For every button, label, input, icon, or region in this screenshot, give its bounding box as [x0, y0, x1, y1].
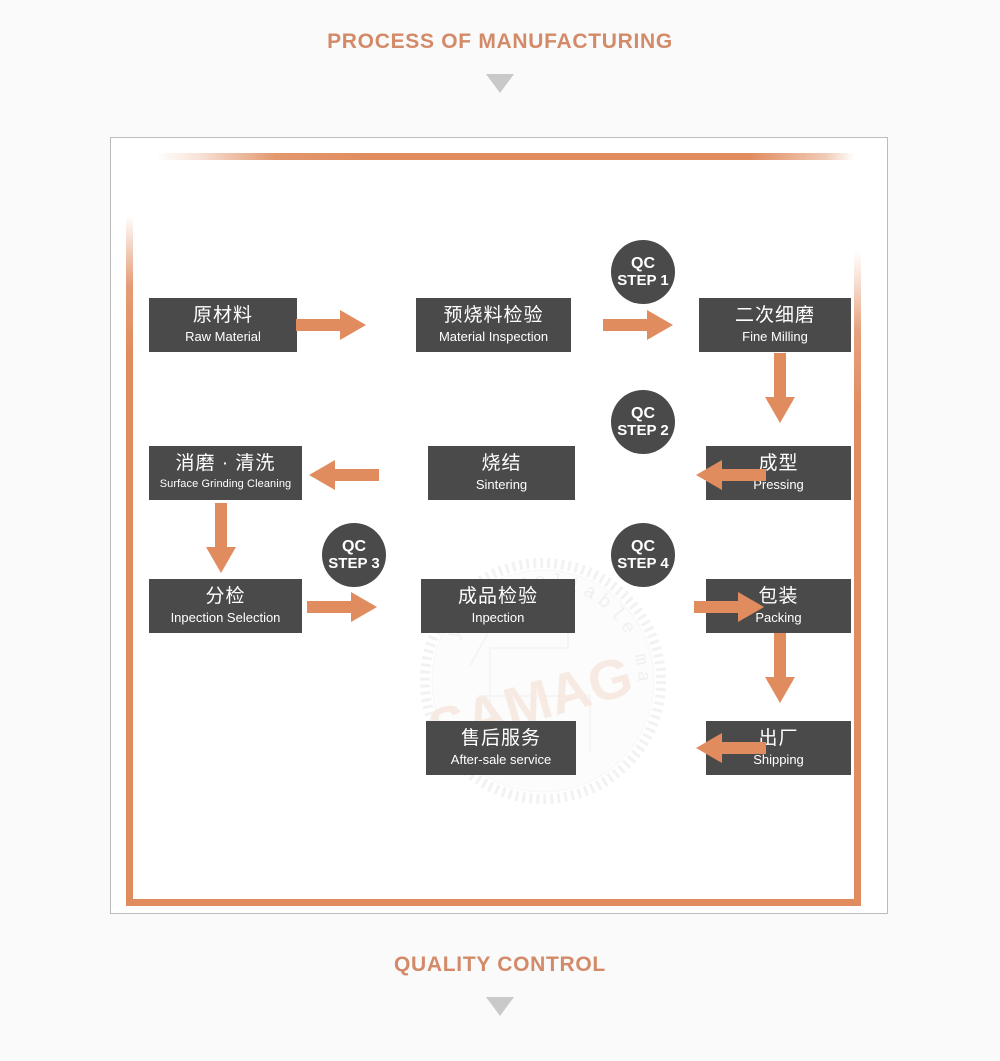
- process-box-inspection-selection-en: Inpection Selection: [171, 609, 281, 626]
- qc-step-1-label-top: QC: [631, 255, 655, 272]
- process-box-surface-grinding-cleaning-en: Surface Grinding Cleaning: [160, 476, 292, 493]
- process-box-sintering[interactable]: 烧结 Sintering: [428, 446, 575, 500]
- process-box-sintering-en: Sintering: [476, 476, 527, 493]
- arrow-shipping-to-after-sale-service: [694, 731, 766, 765]
- frame-line-bottom: [126, 899, 861, 906]
- process-box-fine-milling[interactable]: 二次细磨 Fine Milling: [699, 298, 851, 352]
- process-box-material-inspection[interactable]: 预烧料检验 Material Inspection: [416, 298, 571, 352]
- arrow-packing-to-shipping: [763, 633, 797, 705]
- qc-step-4-label-top: QC: [631, 538, 655, 555]
- qc-step-2-label-bottom: STEP 2: [617, 422, 668, 440]
- arrow-fine-milling-to-pressing: [763, 353, 797, 425]
- process-box-inspection-selection-cn: 分检: [205, 585, 245, 609]
- process-box-sintering-cn: 烧结: [481, 452, 521, 476]
- chevron-down-icon-bottom: [486, 997, 514, 1016]
- arrow-surface-grinding-to-inspection-selection: [204, 503, 238, 575]
- qc-step-2-label-top: QC: [631, 405, 655, 422]
- process-box-raw-material-en: Raw Material: [185, 328, 261, 345]
- process-box-final-inspection-cn: 成品检验: [458, 585, 538, 609]
- process-box-surface-grinding-cleaning[interactable]: 消磨 · 清洗 Surface Grinding Cleaning: [149, 446, 302, 500]
- arrow-pressing-to-sintering: [694, 458, 766, 492]
- qc-checkpoint-step-3[interactable]: QC STEP 3: [322, 523, 386, 587]
- arrow-inspection-selection-to-final-inspection: [307, 590, 379, 624]
- frame-line-right: [854, 251, 861, 906]
- arrow-material-inspection-to-fine-milling: [603, 308, 675, 342]
- frame-line-left: [126, 216, 133, 906]
- qc-step-3-label-top: QC: [342, 538, 366, 555]
- qc-step-3-label-bottom: STEP 3: [328, 555, 379, 573]
- arrow-final-inspection-to-packing: [694, 590, 766, 624]
- section-title-quality-control: QUALITY CONTROL: [0, 953, 1000, 977]
- qc-checkpoint-step-2[interactable]: QC STEP 2: [611, 390, 675, 454]
- process-box-after-sale-service-cn: 售后服务: [461, 727, 541, 751]
- process-box-raw-material-cn: 原材料: [193, 304, 253, 328]
- process-box-final-inspection[interactable]: 成品检验 Inpection: [421, 579, 575, 633]
- process-box-final-inspection-en: Inpection: [472, 609, 525, 626]
- process-box-material-inspection-en: Material Inspection: [439, 328, 548, 345]
- process-box-inspection-selection[interactable]: 分检 Inpection Selection: [149, 579, 302, 633]
- process-box-fine-milling-en: Fine Milling: [742, 328, 808, 345]
- qc-step-4-label-bottom: STEP 4: [617, 555, 668, 573]
- qc-checkpoint-step-1[interactable]: QC STEP 1: [611, 240, 675, 304]
- qc-step-1-label-bottom: STEP 1: [617, 272, 668, 290]
- arrow-sintering-to-surface-grinding: [307, 458, 379, 492]
- process-box-after-sale-service-en: After-sale service: [451, 751, 551, 768]
- frame-line-top: [157, 153, 854, 160]
- process-box-fine-milling-cn: 二次细磨: [735, 304, 815, 328]
- page-title-process-of-manufacturing: PROCESS OF MANUFACTURING: [0, 30, 1000, 54]
- process-box-material-inspection-cn: 预烧料检验: [443, 304, 543, 328]
- process-diagram-card: SAMAG your reliable magnet s 原材料 Ra: [110, 137, 888, 914]
- arrow-raw-to-material-inspection: [296, 308, 368, 342]
- process-box-surface-grinding-cleaning-cn: 消磨 · 清洗: [176, 452, 276, 476]
- qc-checkpoint-step-4[interactable]: QC STEP 4: [611, 523, 675, 587]
- chevron-down-icon-top: [486, 74, 514, 93]
- process-box-raw-material[interactable]: 原材料 Raw Material: [149, 298, 297, 352]
- process-box-after-sale-service[interactable]: 售后服务 After-sale service: [426, 721, 576, 775]
